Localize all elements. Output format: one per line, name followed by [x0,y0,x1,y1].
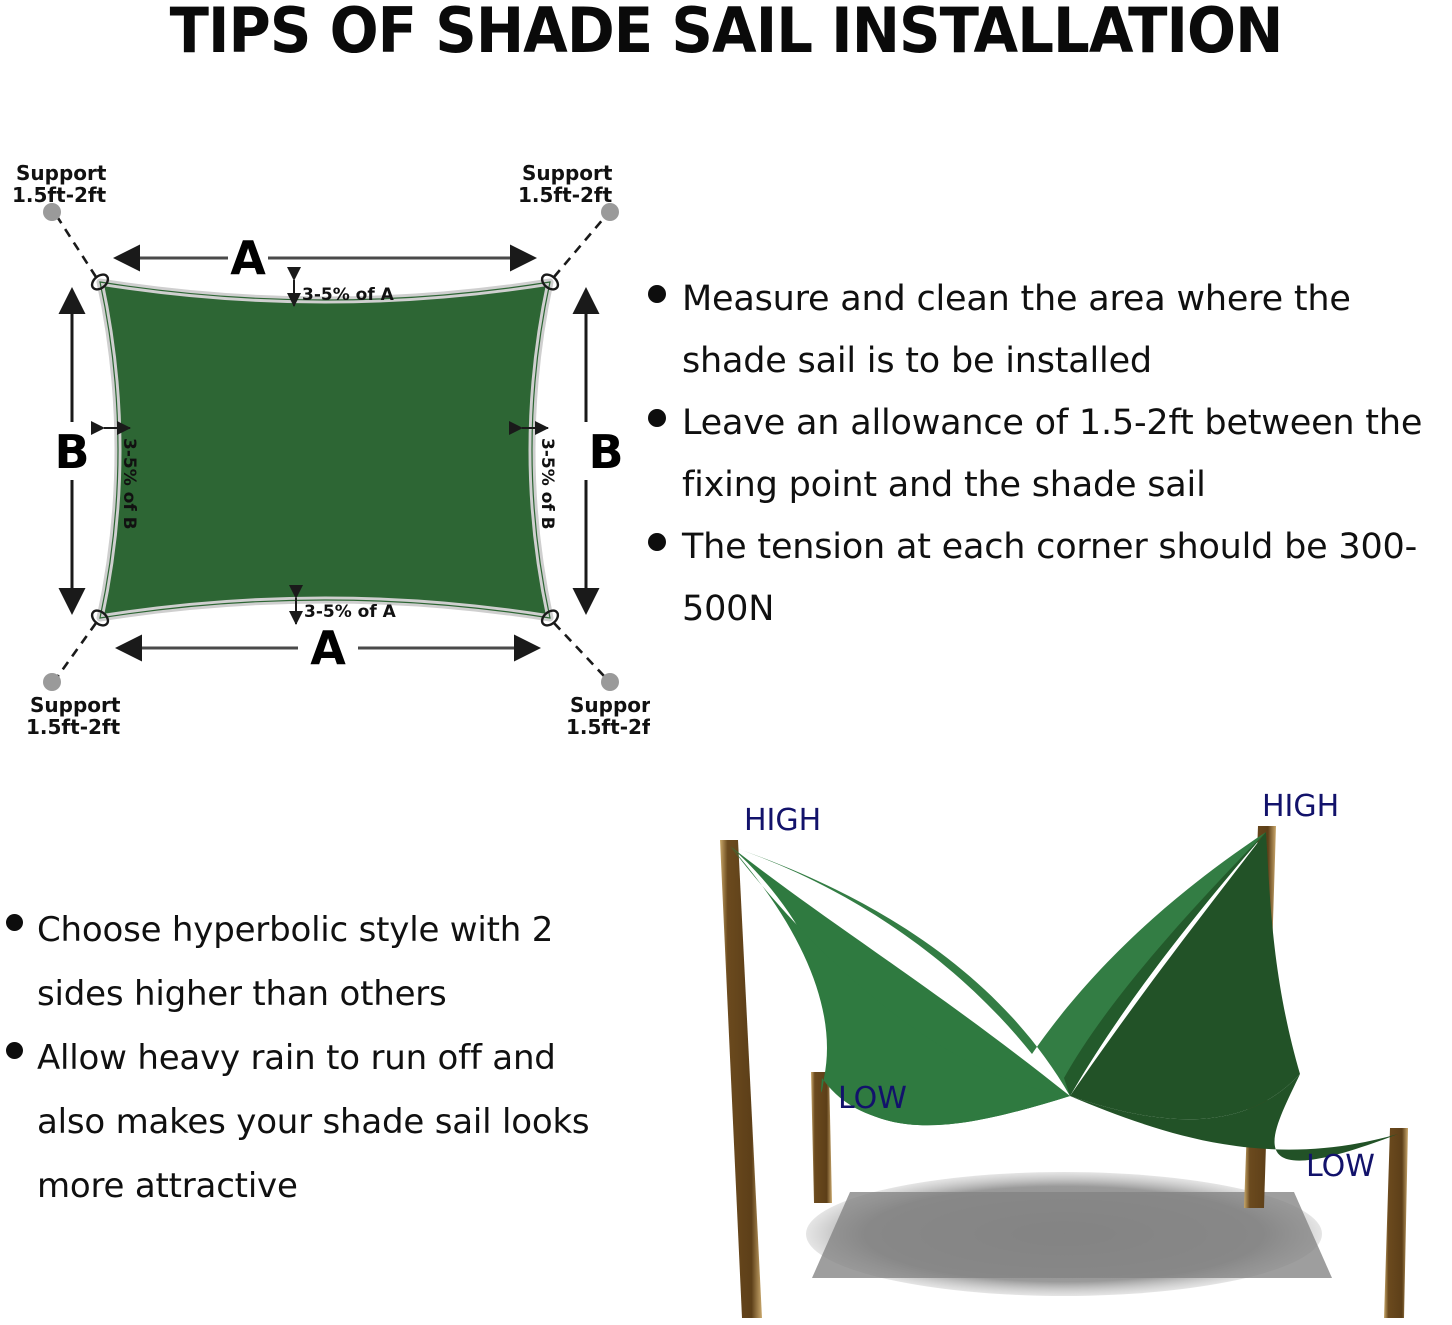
label-post-right-high: HIGH [1262,789,1339,824]
curve-depth-right-label: 3-5% of B [537,438,557,530]
support-line-top-left [58,218,96,277]
installation-tips-list: Measure and clean the area where the sha… [648,268,1452,640]
dimension-letter-b-left: B [54,425,89,479]
support-anchor-bottom-left [43,673,61,691]
tip-text: The tension at each corner should be 300… [682,516,1452,640]
support-label-bottom-right-line2: 1.5ft-2ft [566,715,650,739]
curve-depth-left-label: 3-5% of B [119,438,139,530]
support-line-bottom-right [554,623,604,676]
support-line-bottom-left [58,623,96,676]
dimension-letter-a-top: A [230,231,266,285]
rect-sail-svg: A A B B 3-5% of A 3-5% of A [0,160,650,740]
post-left-high [720,840,762,1318]
tip-text: Choose hyperbolic style with 2 sides hig… [37,898,626,1026]
tip-text: Measure and clean the area where the sha… [682,268,1452,392]
support-label-top-right-line2: 1.5ft-2ft [518,183,613,207]
support-label-top-left-line1: Support [16,161,107,185]
label-post-left-low: LOW [838,1081,907,1116]
support-label-bottom-left: Support 1.5ft-2ft [26,693,121,739]
support-label-bottom-left-line2: 1.5ft-2ft [26,715,121,739]
tip-text: Leave an allowance of 1.5-2ft between th… [682,392,1452,516]
bullet-dot-icon [648,409,666,427]
support-label-top-left: Support 1.5ft-2ft [12,161,107,207]
bullet-dot-icon [6,914,23,931]
bullet-dot-icon [6,1042,23,1059]
list-item: Choose hyperbolic style with 2 sides hig… [6,898,626,1026]
support-label-bottom-right-line1: Support [570,693,650,717]
curve-depth-top-label: 3-5% of A [302,285,395,305]
list-item: Measure and clean the area where the sha… [648,268,1452,392]
shade-sail-shape [100,282,550,618]
support-line-top-right [554,218,604,277]
label-post-left-high: HIGH [744,803,821,838]
curve-depth-bottom-label: 3-5% of A [304,602,397,622]
hyperbolic-sail-illustration: HIGH HIGH LOW LOW [672,778,1452,1325]
list-item: The tension at each corner should be 300… [648,516,1452,640]
support-label-bottom-left-line1: Support [30,693,121,717]
hyperbolic-tips-list: Choose hyperbolic style with 2 sides hig… [6,898,626,1218]
label-post-right-low: LOW [1306,1149,1375,1184]
support-anchor-bottom-right [601,673,619,691]
post-right-low [1384,1128,1408,1318]
support-label-bottom-right: Support 1.5ft-2ft [566,693,650,739]
hyperbolic-sail-svg: HIGH HIGH LOW LOW [672,778,1452,1325]
support-label-top-left-line2: 1.5ft-2ft [12,183,107,207]
support-label-top-right-line1: Support [522,161,613,185]
dimension-letter-a-bottom: A [310,621,346,675]
curve-depth-top: 3-5% of A [294,280,395,306]
rectangular-sail-diagram: A A B B 3-5% of A 3-5% of A [0,160,650,740]
curve-depth-bottom: 3-5% of A [296,598,397,624]
tip-text: Allow heavy rain to run off and also mak… [37,1026,626,1218]
page-title: TIPS OF SHADE SAIL INSTALLATION [51,0,1401,67]
support-label-top-right: Support 1.5ft-2ft [518,161,613,207]
list-item: Leave an allowance of 1.5-2ft between th… [648,392,1452,516]
list-item: Allow heavy rain to run off and also mak… [6,1026,626,1218]
dimension-letter-b-right: B [588,425,623,479]
curve-depth-left: 3-5% of B [104,428,139,530]
bullet-dot-icon [648,533,666,551]
bullet-dot-icon [648,285,666,303]
